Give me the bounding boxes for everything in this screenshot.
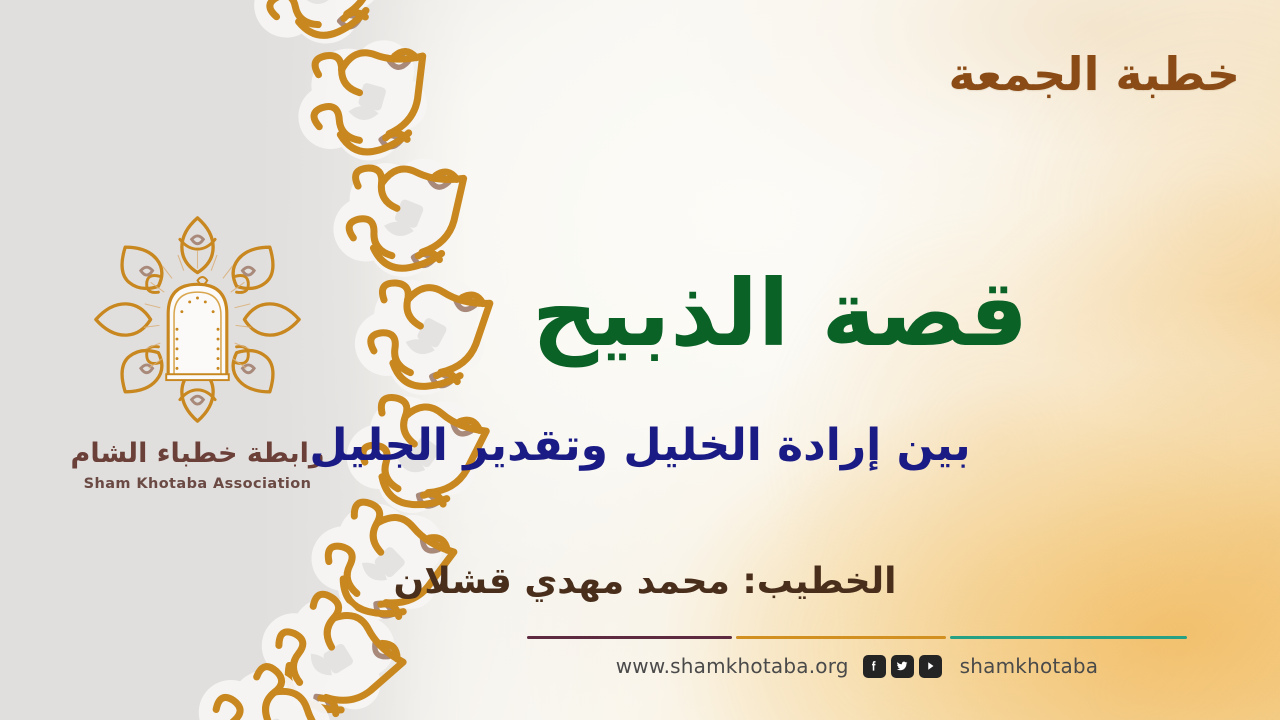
- page-title: قصة الذبيح: [430, 262, 1130, 365]
- social-icon-group: [863, 655, 942, 678]
- website-url[interactable]: www.shamkhotaba.org: [616, 654, 849, 678]
- khutbah-title-slide: رابطة خطباء الشام Sham Khotaba Associati…: [0, 0, 1280, 720]
- divider-segment-gold: [736, 636, 946, 639]
- logo-english-name: Sham Khotaba Association: [60, 476, 335, 492]
- social-handle[interactable]: shamkhotaba: [960, 654, 1099, 678]
- facebook-icon[interactable]: [863, 655, 886, 678]
- mihrab-star-emblem-icon: [90, 212, 305, 427]
- footer: www.shamkhotaba.org s: [527, 636, 1187, 678]
- slide-kicker: خطبة الجمعة: [540, 48, 1240, 101]
- slide-subtitle: بين إرادة الخليل وتقدير الجليل: [50, 420, 1230, 473]
- twitter-icon[interactable]: [891, 655, 914, 678]
- speaker-name: الخطيب: محمد مهدي قشلان: [50, 560, 1240, 603]
- footer-divider: [527, 636, 1187, 639]
- divider-segment-teal: [950, 636, 1187, 639]
- divider-segment-maroon: [527, 636, 732, 639]
- youtube-icon[interactable]: [919, 655, 942, 678]
